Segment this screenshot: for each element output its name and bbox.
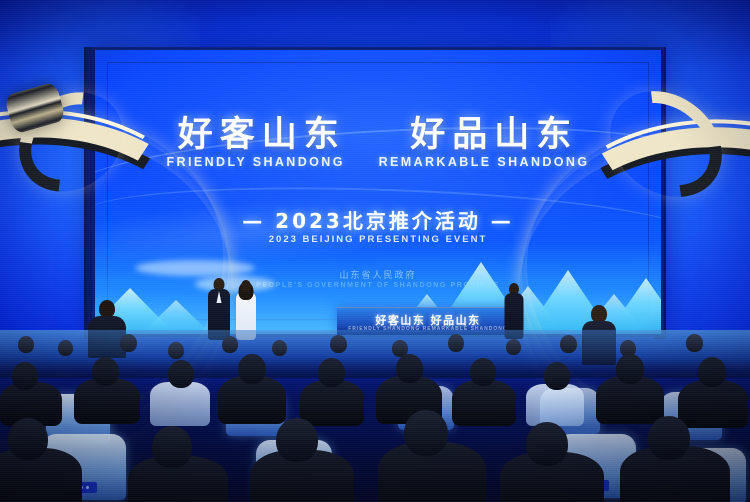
audience-head [168,342,184,359]
audience-head [238,354,266,384]
audience-head [448,334,464,352]
headline-en-right: REMARKABLE SHANDONG [379,155,590,169]
host-female-head [241,280,251,292]
audience-head [318,358,345,387]
audience-head [698,357,726,387]
audience-head [330,335,347,353]
event-stage-photograph: 好客山东 好品山东 FRIENDLY SHANDONG REMARKABLE S… [0,0,750,502]
audience-torso [452,380,516,426]
audience-torso [678,380,748,428]
audience-head [92,357,119,386]
audience-head [168,360,194,388]
audience-head-front [276,418,318,462]
audience-area [0,330,750,502]
audience-torso-light [526,384,584,426]
audience-head [120,334,137,352]
headline-cn-left: 好客山东 [178,114,346,155]
audience-head [686,334,703,352]
audience-head-front [648,416,690,460]
audience-head [506,339,521,355]
screen-headline-cn: 好客山东 好品山东 [95,106,661,157]
audience-torso-light [150,382,210,426]
audience-head [18,336,34,353]
audience-head-front [526,422,568,466]
audience-head [12,362,38,390]
audience-head [616,354,644,384]
audience-head [222,336,238,353]
audience-head [470,358,496,386]
audience-head [272,340,287,356]
audience-torso-front [0,448,82,502]
audience-head-front [152,426,192,468]
audience-head [544,362,570,390]
headline-en-left: FRIENDLY SHANDONG [167,155,345,169]
headline-cn-right: 好品山东 [410,114,578,155]
badge-dot [86,486,89,489]
audience-head-front [404,410,448,456]
audience-head-front [8,418,48,460]
audience-head [58,340,73,356]
audience-head [396,354,423,383]
audience-head [560,335,577,353]
